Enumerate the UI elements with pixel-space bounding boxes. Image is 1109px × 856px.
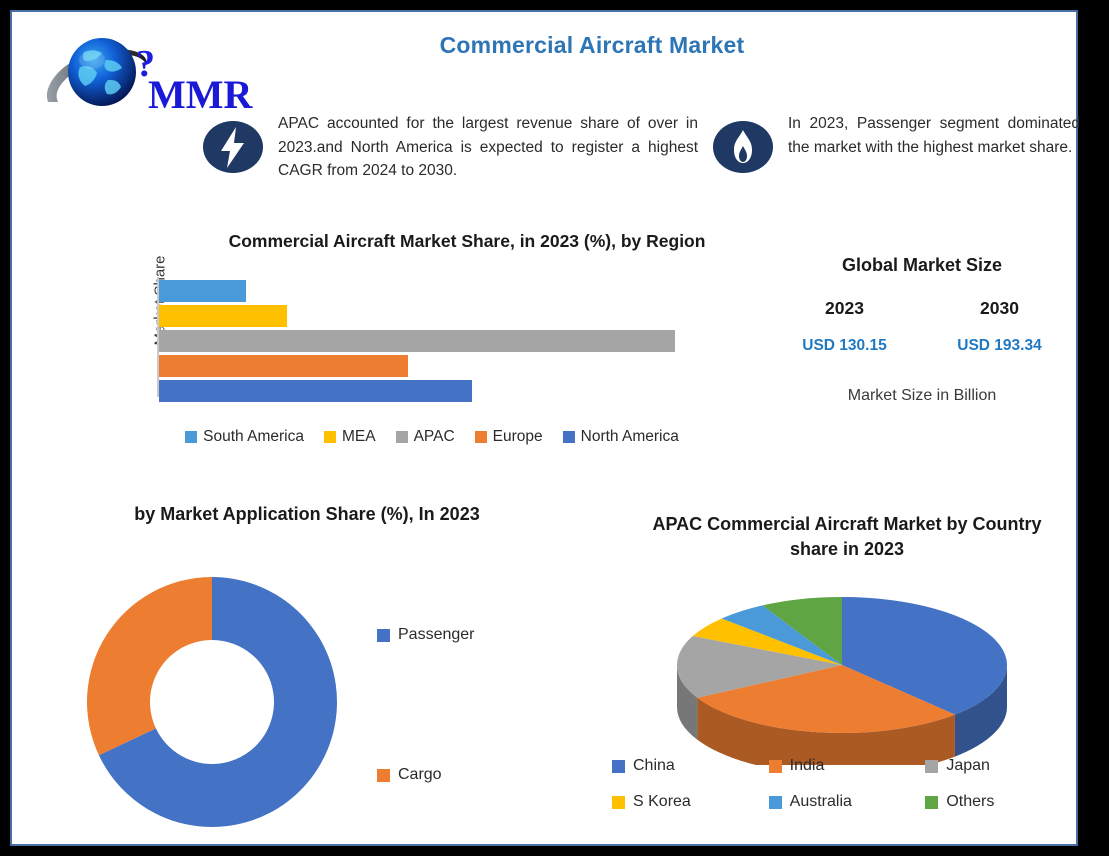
bar-row xyxy=(159,330,739,352)
pie-legend-label: China xyxy=(633,757,675,775)
region-share-bar-chart: Commercial Aircraft Market Share, in 202… xyxy=(97,230,757,470)
pie-legend-item-china: China xyxy=(612,757,769,775)
donut-legend-item-cargo: Cargo xyxy=(377,766,567,784)
pie-chart-title: APAC Commercial Aircraft Market by Count… xyxy=(642,512,1052,562)
bar-row xyxy=(159,280,739,302)
pie-legend-swatch xyxy=(769,760,782,773)
market-size-heading: Global Market Size xyxy=(767,255,1077,276)
bar-south-america xyxy=(159,280,246,302)
pie-legend-swatch xyxy=(925,760,938,773)
bar-legend-item-north-america: North America xyxy=(563,428,679,446)
bar-legend-label: Europe xyxy=(493,428,543,446)
bar-chart-bars xyxy=(159,280,739,405)
bar-legend-item-apac: APAC xyxy=(396,428,455,446)
bar-legend-label: APAC xyxy=(414,428,455,446)
bar-legend-item-mea: MEA xyxy=(324,428,376,446)
bar-legend-label: MEA xyxy=(342,428,376,446)
highlight-passenger-text: In 2023, Passenger segment dominated the… xyxy=(788,112,1080,159)
pie-legend-item-others: Others xyxy=(925,793,1082,811)
bar-legend-swatch xyxy=(396,431,408,443)
bar-legend-swatch xyxy=(185,431,197,443)
donut-legend-label-cargo: Cargo xyxy=(398,766,442,784)
bar-legend-item-south-america: South America xyxy=(185,428,304,446)
pie-legend-swatch xyxy=(769,796,782,809)
donut-legend-swatch-cargo xyxy=(377,769,390,782)
bar-row xyxy=(159,355,739,377)
market-size-value-2030: USD 193.34 xyxy=(957,337,1041,355)
bar-legend-label: North America xyxy=(581,428,679,446)
market-size-value-2023: USD 130.15 xyxy=(802,337,886,355)
donut-slice-cargo xyxy=(87,577,212,755)
market-size-year-2030: 2030 xyxy=(980,298,1019,319)
pie-legend-swatch xyxy=(612,796,625,809)
donut-chart-title: by Market Application Share (%), In 2023 xyxy=(132,502,482,527)
pie-legend-label: Japan xyxy=(946,757,990,775)
market-size-years: 2023 2030 xyxy=(767,298,1077,319)
pie-legend-item-australia: Australia xyxy=(769,793,926,811)
global-market-size-panel: Global Market Size 2023 2030 USD 130.15 … xyxy=(767,255,1077,405)
pie-chart-legend: ChinaIndiaJapanS KoreaAustraliaOthers xyxy=(612,757,1082,811)
bar-legend-swatch xyxy=(324,431,336,443)
mmr-logo: ? MMR xyxy=(40,30,255,122)
donut-legend-swatch-passenger xyxy=(377,629,390,642)
pie-legend-label: Others xyxy=(946,793,994,811)
pie-legend-swatch xyxy=(612,760,625,773)
bar-mea xyxy=(159,305,287,327)
application-share-donut-chart: by Market Application Share (%), In 2023… xyxy=(72,502,572,842)
bar-chart-title: Commercial Aircraft Market Share, in 202… xyxy=(197,230,737,254)
page-title: Commercial Aircraft Market xyxy=(342,32,842,59)
logo-wordmark: MMR xyxy=(148,72,254,117)
bar-row xyxy=(159,380,739,402)
donut-chart-legend: Passenger Cargo xyxy=(377,592,567,784)
infographic-frame: ? MMR Commercial Aircraft Market APAC ac… xyxy=(10,10,1078,846)
donut-chart-graphic xyxy=(80,570,345,835)
highlight-apac: APAC accounted for the largest revenue s… xyxy=(202,112,712,183)
bar-legend-swatch xyxy=(475,431,487,443)
market-size-year-2023: 2023 xyxy=(825,298,864,319)
donut-legend-label-passenger: Passenger xyxy=(398,626,475,644)
bar-row xyxy=(159,305,739,327)
highlight-apac-text: APAC accounted for the largest revenue s… xyxy=(278,112,698,183)
market-size-values: USD 130.15 USD 193.34 xyxy=(767,337,1077,355)
pie-legend-item-s-korea: S Korea xyxy=(612,793,769,811)
pie-legend-label: Australia xyxy=(790,793,852,811)
market-size-unit-label: Market Size in Billion xyxy=(767,387,1077,405)
pie-legend-label: S Korea xyxy=(633,793,691,811)
bar-apac xyxy=(159,330,675,352)
lightning-bolt-icon xyxy=(202,118,264,176)
bar-europe xyxy=(159,355,408,377)
apac-country-pie-chart: APAC Commercial Aircraft Market by Count… xyxy=(612,512,1082,842)
flame-icon xyxy=(712,118,774,176)
bar-chart-legend: South AmericaMEAAPACEuropeNorth America xyxy=(122,428,742,446)
bar-legend-label: South America xyxy=(203,428,304,446)
pie-legend-item-india: India xyxy=(769,757,926,775)
pie-legend-label: India xyxy=(790,757,825,775)
highlight-passenger: In 2023, Passenger segment dominated the… xyxy=(712,112,1092,176)
bar-legend-swatch xyxy=(563,431,575,443)
donut-legend-item-passenger: Passenger xyxy=(377,626,567,644)
pie-chart-graphic xyxy=(667,570,1017,765)
pie-legend-item-japan: Japan xyxy=(925,757,1082,775)
bar-legend-item-europe: Europe xyxy=(475,428,543,446)
pie-legend-swatch xyxy=(925,796,938,809)
bar-north-america xyxy=(159,380,472,402)
